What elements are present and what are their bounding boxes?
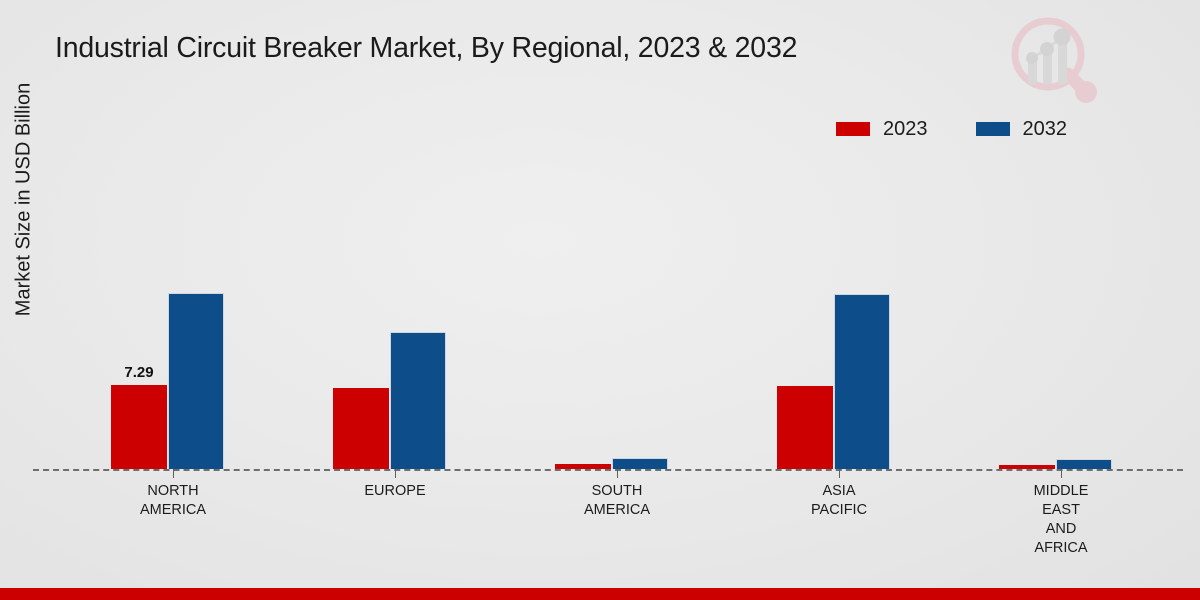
x-axis-tick — [395, 469, 396, 478]
x-axis-label: EUROPE — [300, 482, 490, 501]
x-axis-label: SOUTHAMERICA — [522, 482, 712, 520]
x-axis-label-line: AMERICA — [78, 501, 268, 520]
x-axis-label: NORTHAMERICA — [78, 482, 268, 520]
x-axis-tick — [839, 469, 840, 478]
bar-2032[interactable] — [834, 294, 890, 469]
x-axis-label-line: MIDDLE — [966, 482, 1156, 501]
bar-2023[interactable] — [111, 385, 167, 469]
bar-value-label: 7.29 — [109, 364, 169, 381]
x-axis-label-line: NORTH — [78, 482, 268, 501]
x-axis-label: ASIAPACIFIC — [744, 482, 934, 520]
x-axis-baseline — [33, 469, 1183, 471]
bar-2032[interactable] — [612, 458, 668, 469]
x-axis-tick — [1061, 469, 1062, 478]
x-axis-label-line: AMERICA — [522, 501, 712, 520]
x-axis-tick — [617, 469, 618, 478]
market-research-future-logo-watermark — [1000, 8, 1108, 116]
legend-item-2032[interactable]: 2032 — [976, 119, 1068, 139]
bar-2023[interactable] — [333, 388, 389, 469]
bar-groups: 7.29 — [33, 160, 1183, 469]
x-axis-label-line: AND — [966, 520, 1156, 539]
x-axis-tick — [173, 469, 174, 478]
x-axis-label-line: EUROPE — [300, 482, 490, 501]
bar-2032[interactable] — [1056, 459, 1112, 469]
x-axis-label-line: ASIA — [744, 482, 934, 501]
bottom-accent-stripe — [0, 588, 1200, 600]
bar-2023[interactable] — [777, 386, 833, 469]
x-axis-label-line: SOUTH — [522, 482, 712, 501]
chart-legend: 2023 2032 — [836, 119, 1067, 139]
legend-label-2023: 2023 — [883, 119, 928, 139]
legend-swatch-2032 — [976, 122, 1010, 136]
x-axis-label-line: AFRICA — [966, 539, 1156, 558]
x-axis-label-line: PACIFIC — [744, 501, 934, 520]
legend-item-2023[interactable]: 2023 — [836, 119, 928, 139]
legend-swatch-2023 — [836, 122, 870, 136]
plot-area: 7.29 NORTHAMERICAEUROPESOUTHAMERICAASIAP… — [33, 160, 1183, 470]
x-axis-label-line: EAST — [966, 501, 1156, 520]
bar-2032[interactable] — [168, 293, 224, 469]
chart-page: Industrial Circuit Breaker Market, By Re… — [0, 0, 1200, 600]
x-axis-label: MIDDLEEASTANDAFRICA — [966, 482, 1156, 558]
bar-2032[interactable] — [390, 332, 446, 469]
chart-title: Industrial Circuit Breaker Market, By Re… — [55, 32, 797, 65]
legend-label-2032: 2032 — [1023, 119, 1068, 139]
